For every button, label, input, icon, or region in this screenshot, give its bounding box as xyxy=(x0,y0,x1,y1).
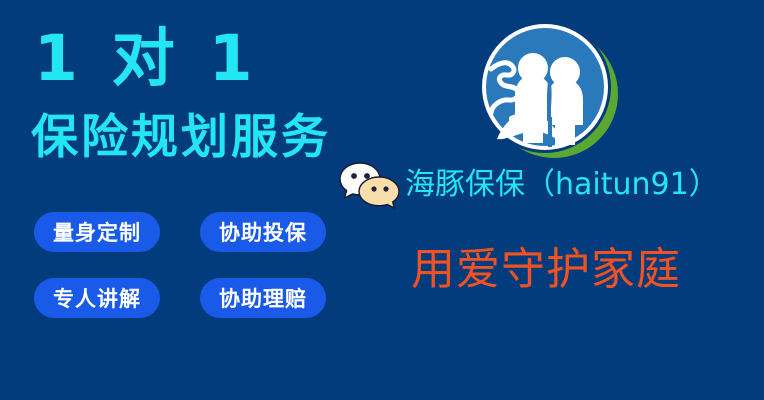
headline-primary: 1 对 1 xyxy=(34,27,259,90)
promo-banner: 1 对 1 保险规划服务 量身定制 协助投保 专人讲解 协助理赔 xyxy=(0,0,764,400)
feature-pill-apply-assist[interactable]: 协助投保 xyxy=(200,212,326,252)
headline-secondary: 保险规划服务 xyxy=(31,114,331,161)
feature-pill-group: 量身定制 协助投保 专人讲解 协助理赔 xyxy=(34,212,334,318)
wechat-handle-label: 海豚保保（haitun91） xyxy=(405,170,719,200)
brand-logo xyxy=(479,21,619,161)
slogan-text: 用爱守护家庭 xyxy=(411,248,681,292)
wechat-icon xyxy=(339,160,401,210)
feature-pill-expert-explain[interactable]: 专人讲解 xyxy=(34,278,160,318)
globe-family-dolphin-icon xyxy=(479,21,619,161)
feature-pill-claim-assist[interactable]: 协助理赔 xyxy=(200,278,326,318)
feature-pill-custom[interactable]: 量身定制 xyxy=(34,212,160,252)
wechat-contact-row[interactable]: 海豚保保（haitun91） xyxy=(339,159,719,211)
